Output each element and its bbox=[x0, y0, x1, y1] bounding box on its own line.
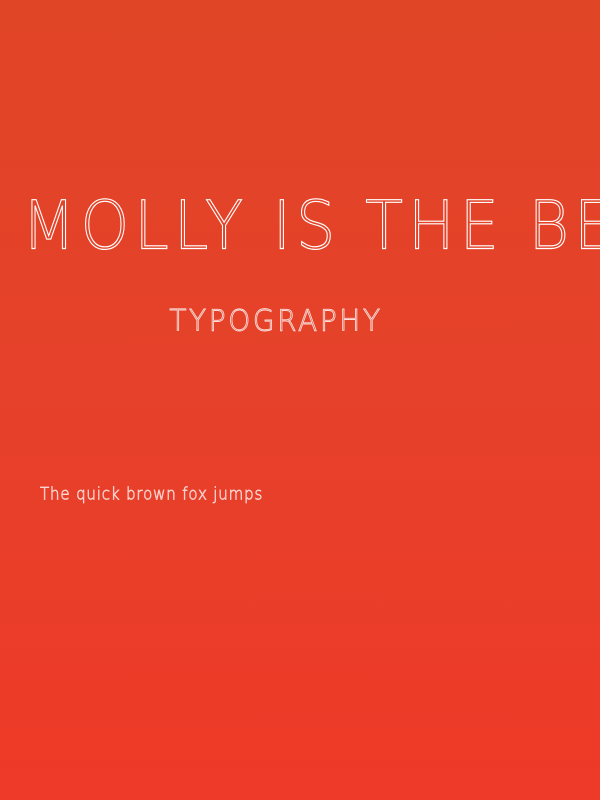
specimen-subtitle: TYPOGRAPHY bbox=[0, 303, 552, 339]
specimen-body-sample: The quick brown fox jumps bbox=[40, 483, 263, 506]
specimen-headline: MOLLY IS THE BEST B bbox=[22, 186, 600, 266]
typography-specimen-page: MOLLY IS THE BEST B TYPOGRAPHY The quick… bbox=[0, 0, 600, 800]
